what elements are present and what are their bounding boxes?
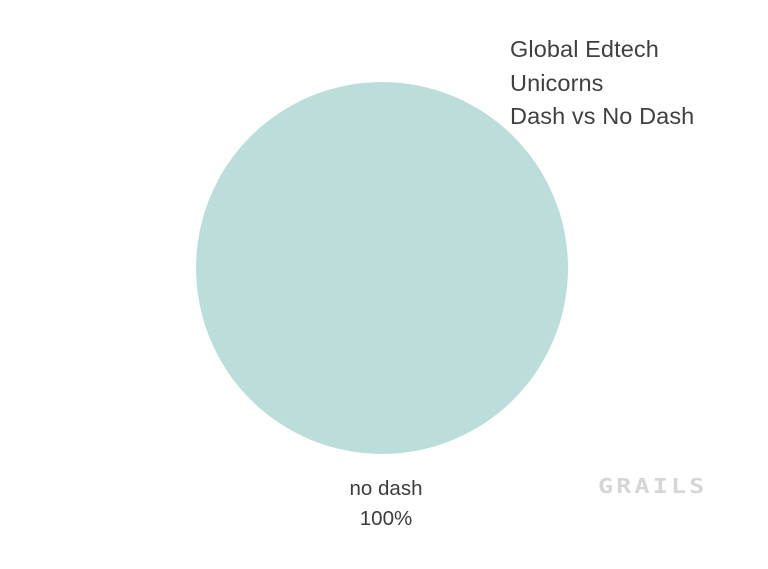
pie-slice-label: no dash 100% bbox=[256, 474, 516, 534]
pie-chart bbox=[196, 82, 568, 454]
pie-slice-no-dash[interactable] bbox=[196, 82, 568, 454]
pie-slice-label-name: no dash bbox=[256, 474, 516, 504]
chart-title-line-1: Global Edtech bbox=[510, 33, 760, 67]
pie-chart-svg bbox=[196, 82, 568, 454]
chart-canvas: Global Edtech Unicorns Dash vs No Dash n… bbox=[0, 0, 768, 569]
grails-watermark: GRAILS bbox=[598, 474, 708, 498]
pie-slice-label-percent: 100% bbox=[256, 504, 516, 534]
